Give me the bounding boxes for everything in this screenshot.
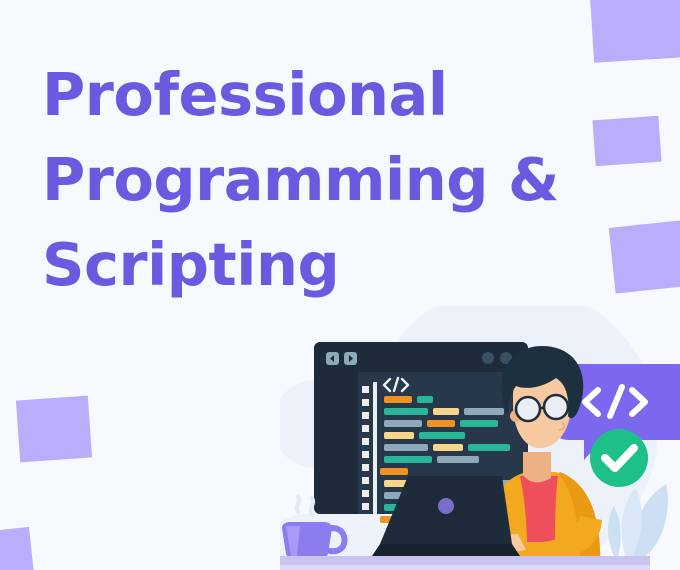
headline-line-3: Scripting — [42, 222, 582, 307]
desk-edge — [280, 565, 650, 570]
success-check-badge — [590, 429, 648, 487]
decorative-square-left-bottom — [0, 527, 35, 570]
decorative-square-right-lower — [609, 220, 680, 293]
headline-line-1: Professional — [42, 52, 582, 137]
poster-canvas: Professional Programming & Scripting — [0, 0, 680, 570]
decorative-square-right-upper — [592, 116, 661, 166]
decorative-square-top-right — [590, 0, 680, 63]
desk-surface — [280, 556, 650, 565]
steam-icon — [297, 496, 299, 512]
laptop-logo-icon — [438, 498, 454, 514]
developer-illustration — [280, 306, 680, 570]
code-gutter-rule — [373, 382, 377, 514]
headline-line-2: Programming & — [42, 137, 582, 222]
poster-headline: Professional Programming & Scripting — [42, 52, 582, 307]
decorative-square-left-middle — [16, 396, 92, 463]
